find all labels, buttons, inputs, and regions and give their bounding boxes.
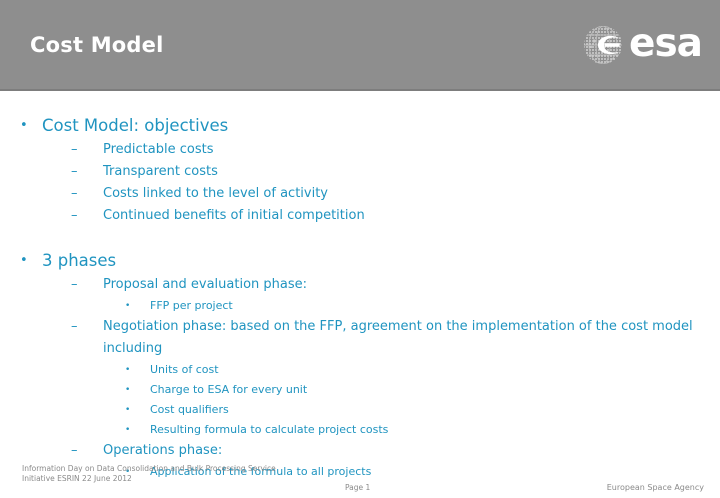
bullet-marker-icon: • [20, 113, 28, 139]
bullet-text: Resulting formula to calculate project c… [150, 420, 720, 440]
bullet-item-level-3: •Cost qualifiers [0, 400, 720, 420]
bullet-item-level-1: •Cost Model: objectives [0, 113, 720, 139]
bullet-marker-icon: – [71, 161, 78, 183]
footer-organisation: European Space Agency [607, 483, 704, 493]
bullet-item-level-2: –Continued benefits of initial competiti… [0, 205, 720, 227]
bullet-marker-icon: – [71, 183, 78, 205]
bullet-item-level-2: –Transparent costs [0, 161, 720, 183]
esa-logo: esa [580, 22, 702, 68]
slide-body: •Cost Model: objectives–Predictable cost… [0, 91, 720, 461]
slide-footer: Information Day on Data Consolidation an… [0, 458, 720, 498]
bullet-text: Negotiation phase: based on the FFP, agr… [103, 316, 720, 360]
bullet-item-level-2: –Predictable costs [0, 139, 720, 161]
bullet-text: 3 phases [42, 248, 720, 274]
footer-page-number: Page 1 [345, 483, 370, 493]
bullet-marker-icon: • [125, 400, 130, 420]
bullet-text: Proposal and evaluation phase: [103, 274, 720, 296]
bullet-marker-icon: – [71, 205, 78, 227]
bullet-item-level-2: –Negotiation phase: based on the FFP, ag… [0, 316, 720, 360]
bullet-item-level-2: –Proposal and evaluation phase: [0, 274, 720, 296]
footer-event-text: Information Day on Data Consolidation an… [22, 464, 276, 484]
bullet-text: Costs linked to the level of activity [103, 183, 720, 205]
bullet-text: Charge to ESA for every unit [150, 380, 720, 400]
bullet-text: Continued benefits of initial competitio… [103, 205, 720, 227]
esa-wordmark: esa [629, 24, 702, 63]
bullet-marker-icon: • [125, 360, 130, 380]
page-title: Cost Model [30, 33, 164, 57]
bullet-item-level-2: –Costs linked to the level of activity [0, 183, 720, 205]
bullet-marker-icon: – [71, 316, 78, 338]
bullet-marker-icon: • [125, 380, 130, 400]
slide-header: Cost Model [0, 0, 720, 91]
bullet-list: •Cost Model: objectives–Predictable cost… [0, 113, 720, 482]
bullet-text: Transparent costs [103, 161, 720, 183]
bullet-text: FFP per project [150, 296, 720, 316]
bullet-marker-icon: • [125, 296, 130, 316]
bullet-item-level-3: •FFP per project [0, 296, 720, 316]
bullet-item-level-3: •Resulting formula to calculate project … [0, 420, 720, 440]
bullet-marker-icon: • [20, 248, 28, 274]
bullet-text: Cost qualifiers [150, 400, 720, 420]
bullet-item-level-3: •Charge to ESA for every unit [0, 380, 720, 400]
bullet-marker-icon: – [71, 139, 78, 161]
bullet-item-level-1: •3 phases [0, 248, 720, 274]
esa-globe-icon [580, 22, 626, 68]
bullet-text: Units of cost [150, 360, 720, 380]
bullet-text: Predictable costs [103, 139, 720, 161]
bullet-text: Cost Model: objectives [42, 113, 720, 139]
bullet-marker-icon: – [71, 274, 78, 296]
bullet-item-level-3: •Units of cost [0, 360, 720, 380]
bullet-marker-icon: • [125, 420, 130, 440]
